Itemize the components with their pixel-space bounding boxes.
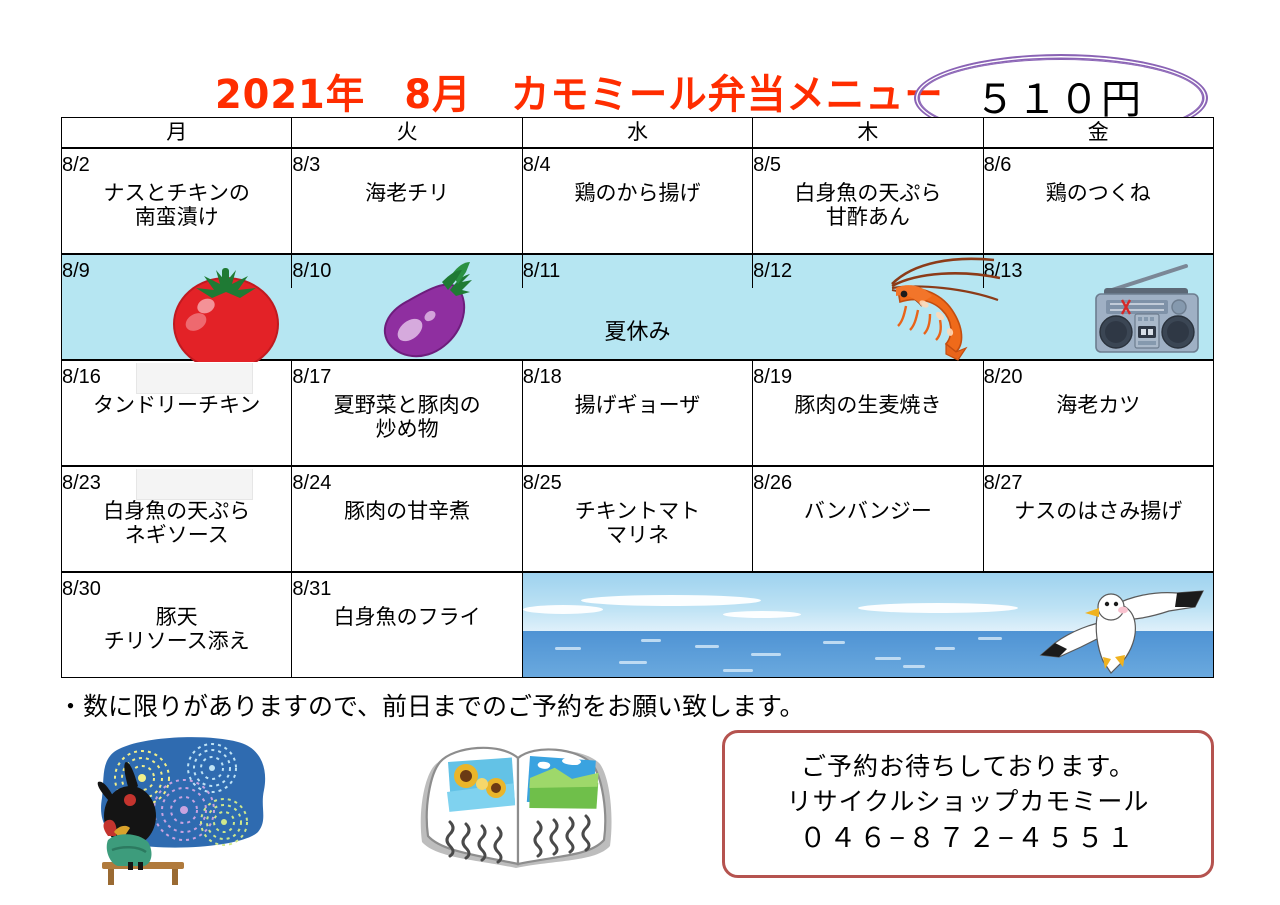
dish-line: 鶏のつくね [984,182,1213,206]
date-cell: 8/23 [62,466,292,500]
dish-line: 鶏のから揚げ [523,182,752,206]
sea-scene [523,573,1213,677]
dish-cell: 鶏のつくね [983,182,1213,254]
dish-line: チキントマト [523,500,752,524]
dish-cell: 海老チリ [292,182,522,254]
menu-flyer-page: 2021年 8月 カモミール弁当メニュー ５１０円 月 火 水 木 金 8/2 … [0,0,1280,905]
dish-line: 海老チリ [292,182,521,206]
week-3-date-row: 8/16 8/17 8/18 8/19 8/20 [62,360,1214,394]
dish-cell: チキントマト マリネ [522,500,752,572]
dish-cell: バンバンジー [753,500,983,572]
day-header-tue: 火 [292,118,522,149]
dish-line: 揚げギョーザ [523,394,752,418]
date-cell: 8/24 [292,466,522,500]
fireworks-girl-icon [72,732,287,890]
day-header-thu: 木 [753,118,983,149]
dish-line: 白身魚の天ぷら [62,500,291,524]
dish-line: 炒め物 [292,418,521,442]
week-4-dish-row: 白身魚の天ぷら ネギソース 豚肉の甘辛煮 チキントマト マリネ バンバンジー ナ… [62,500,1214,572]
day-header-fri: 金 [983,118,1213,149]
date-cell: 8/20 [983,360,1213,394]
date-cell: 8/6 [983,148,1213,182]
blank-artifact-box [136,363,253,394]
dish-line: 甘酢あん [753,206,982,230]
date-cell: 8/4 [522,148,752,182]
dish-line: ナスとチキンの [62,182,291,206]
contact-line-1: ご予約お待ちしております。 [801,751,1135,784]
week-2-holiday-row: 夏休み [62,288,1214,360]
sea-photo-cell [522,572,1213,678]
week-5-date-row: 8/30 8/31 [62,572,1214,606]
date-cell: 8/12 [753,254,983,288]
date-cell: 8/3 [292,148,522,182]
dish-cell: 豚肉の甘辛煮 [292,500,522,572]
dish-cell: 豚肉の生麦焼き [753,394,983,466]
date-cell: 8/16 [62,360,292,394]
dish-cell: 鶏のから揚げ [522,182,752,254]
date-cell: 8/30 [62,572,292,606]
blank-artifact-box [136,469,253,500]
dish-line: 夏野菜と豚肉の [292,394,521,418]
dish-cell: 海老カツ [983,394,1213,466]
day-header-mon: 月 [62,118,292,149]
dish-cell: 白身魚のフライ [292,606,522,678]
reservation-note: ・数に限りがありますので、前日までのご予約をお願い致します。 [58,687,805,723]
dish-line: 海老カツ [984,394,1213,418]
summer-holiday-banner: 夏休み [62,288,1214,360]
menu-calendar: 月 火 水 木 金 8/2 8/3 8/4 8/5 8/6 ナスとチキンの 南蛮… [61,117,1214,678]
week-1-date-row: 8/2 8/3 8/4 8/5 8/6 [62,148,1214,182]
date-cell: 8/26 [753,466,983,500]
title-row: 2021年 8月 カモミール弁当メニュー ５１０円 [0,28,1280,102]
contact-line-2: リサイクルショップカモミール [787,786,1150,819]
dish-line: 豚天 [62,606,291,630]
contact-phone: ０４６−８７２−４５５１ [799,821,1137,857]
dish-line: 南蛮漬け [62,206,291,230]
dish-cell: 夏野菜と豚肉の 炒め物 [292,394,522,466]
week-2-date-row: 8/9 8/10 8/11 8/12 8/13 [62,254,1214,288]
date-cell: 8/27 [983,466,1213,500]
ocean [523,631,1213,677]
date-cell: 8/11 [522,254,752,288]
date-cell: 8/25 [522,466,752,500]
week-3-dish-row: タンドリーチキン 夏野菜と豚肉の 炒め物 揚げギョーザ 豚肉の生麦焼き 海老カツ [62,394,1214,466]
dish-line: 白身魚のフライ [292,606,521,630]
date-cell: 8/13 [983,254,1213,288]
open-picture-book-icon [404,726,626,888]
dish-line: バンバンジー [753,500,982,524]
dish-cell: ナスのはさみ揚げ [983,500,1213,572]
dish-cell: 豚天 チリソース添え [62,606,292,678]
date-cell: 8/31 [292,572,522,606]
dish-line: ネギソース [62,524,291,548]
dish-line: 白身魚の天ぷら [753,182,982,206]
date-text: 8/16 [62,366,101,388]
date-text: 8/23 [62,472,101,494]
dish-cell: タンドリーチキン [62,394,292,466]
dish-cell: 白身魚の天ぷら ネギソース [62,500,292,572]
date-cell: 8/2 [62,148,292,182]
day-header-wed: 水 [522,118,752,149]
date-cell: 8/5 [753,148,983,182]
dish-line: チリソース添え [62,630,291,654]
dish-line: ナスのはさみ揚げ [984,500,1213,524]
dish-line: 豚肉の生麦焼き [753,394,982,418]
dish-line: マリネ [523,524,752,548]
dish-line: 豚肉の甘辛煮 [292,500,521,524]
dish-line: タンドリーチキン [62,394,291,418]
date-cell: 8/18 [522,360,752,394]
dish-cell: 白身魚の天ぷら 甘酢あん [753,182,983,254]
date-cell: 8/10 [292,254,522,288]
page-title: 2021年 8月 カモミール弁当メニュー [215,62,944,120]
contact-box: ご予約お待ちしております。 リサイクルショップカモミール ０４６−８７２−４５５… [722,730,1214,878]
date-cell: 8/19 [753,360,983,394]
date-cell: 8/17 [292,360,522,394]
dish-cell: 揚げギョーザ [522,394,752,466]
week-4-date-row: 8/23 8/24 8/25 8/26 8/27 [62,466,1214,500]
calendar-header-row: 月 火 水 木 金 [62,118,1214,149]
date-cell: 8/9 [62,254,292,288]
dish-cell: ナスとチキンの 南蛮漬け [62,182,292,254]
holiday-label: 夏休み [604,319,670,344]
week-1-dish-row: ナスとチキンの 南蛮漬け 海老チリ 鶏のから揚げ 白身魚の天ぷら 甘酢あん 鶏の… [62,182,1214,254]
